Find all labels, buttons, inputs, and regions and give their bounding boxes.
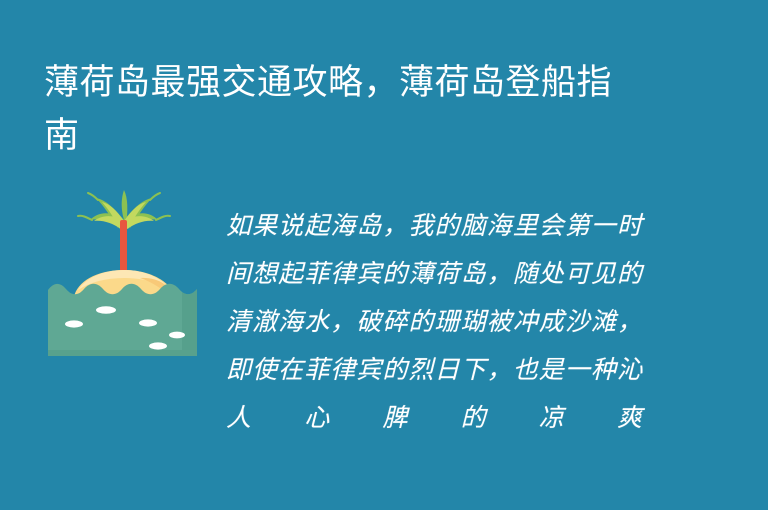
tropical-island-icon xyxy=(44,190,204,360)
poster-canvas: 薄荷岛最强交通攻略，薄荷岛登船指南 xyxy=(0,0,768,510)
article-body-text: 如果说起海岛，我的脑海里会第一时间想起菲律宾的薄荷岛，随处可见的清澈海水，破碎的… xyxy=(226,202,642,442)
palm-trunk xyxy=(120,220,127,276)
page-title: 薄荷岛最强交通攻略，薄荷岛登船指南 xyxy=(44,56,644,162)
content-row: 如果说起海岛，我的脑海里会第一时间想起菲律宾的薄荷岛，随处可见的清澈海水，破碎的… xyxy=(0,186,768,446)
